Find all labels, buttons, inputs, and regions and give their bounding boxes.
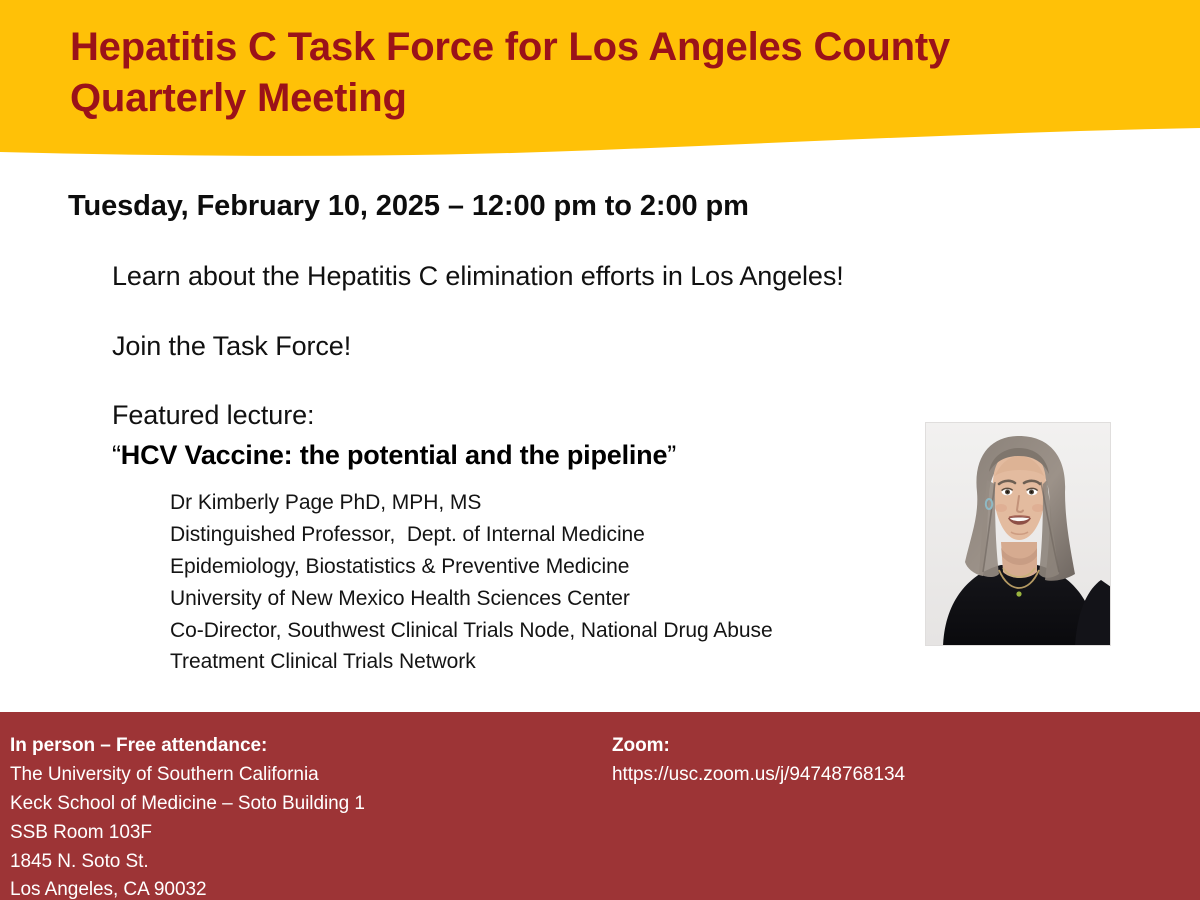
intro-line-1: Learn about the Hepatitis C elimination … — [112, 260, 912, 292]
spacer-1 — [112, 292, 912, 330]
page-title-line-1: Hepatitis C Task Force for Los Angeles C… — [70, 22, 1130, 73]
lecture-title: “HCV Vaccine: the potential and the pipe… — [112, 439, 912, 473]
in-person-line: 1845 N. Soto St. — [10, 848, 570, 877]
spacer-2 — [112, 363, 912, 399]
body-content: Learn about the Hepatitis C elimination … — [112, 260, 912, 678]
in-person-heading: In person – Free attendance: — [10, 732, 570, 761]
bio-line: Co-Director, Southwest Clinical Trials N… — [170, 615, 912, 647]
bio-line: Distinguished Professor, Dept. of Intern… — [170, 519, 912, 551]
in-person-line: Los Angeles, CA 90032 — [10, 876, 570, 900]
in-person-line: Keck School of Medicine – Soto Building … — [10, 790, 570, 819]
bio-line: Dr Kimberly Page PhD, MPH, MS — [170, 487, 912, 519]
footer-in-person-column: In person – Free attendance: The Univers… — [10, 732, 570, 900]
zoom-link[interactable]: https://usc.zoom.us/j/94748768134 — [612, 761, 1172, 790]
speaker-bio: Dr Kimberly Page PhD, MPH, MS Distinguis… — [170, 487, 912, 678]
bio-line: Epidemiology, Biostatistics & Preventive… — [170, 551, 912, 583]
bio-line: Treatment Clinical Trials Network — [170, 646, 912, 678]
portrait-illustration — [925, 422, 1111, 646]
in-person-line: The University of Southern California — [10, 761, 570, 790]
zoom-heading: Zoom: — [612, 732, 1172, 761]
lecture-title-text: HCV Vaccine: the potential and the pipel… — [121, 440, 668, 470]
flyer-page: Hepatitis C Task Force for Los Angeles C… — [0, 0, 1200, 900]
page-title-line-2: Quarterly Meeting — [70, 73, 1130, 124]
lecture-close-quote: ” — [667, 440, 676, 470]
featured-lecture-label: Featured lecture: — [112, 399, 912, 431]
footer-zoom-column: Zoom: https://usc.zoom.us/j/94748768134 — [612, 732, 1172, 790]
intro-line-2: Join the Task Force! — [112, 330, 912, 362]
speaker-portrait-photo — [925, 422, 1111, 646]
header-banner: Hepatitis C Task Force for Los Angeles C… — [0, 0, 1200, 175]
lecture-open-quote: “ — [112, 440, 121, 470]
footer-banner: In person – Free attendance: The Univers… — [0, 712, 1200, 900]
in-person-line: SSB Room 103F — [10, 819, 570, 848]
event-datetime: Tuesday, February 10, 2025 – 12:00 pm to… — [68, 190, 749, 223]
page-title: Hepatitis C Task Force for Los Angeles C… — [70, 22, 1130, 124]
bio-line: University of New Mexico Health Sciences… — [170, 583, 912, 615]
